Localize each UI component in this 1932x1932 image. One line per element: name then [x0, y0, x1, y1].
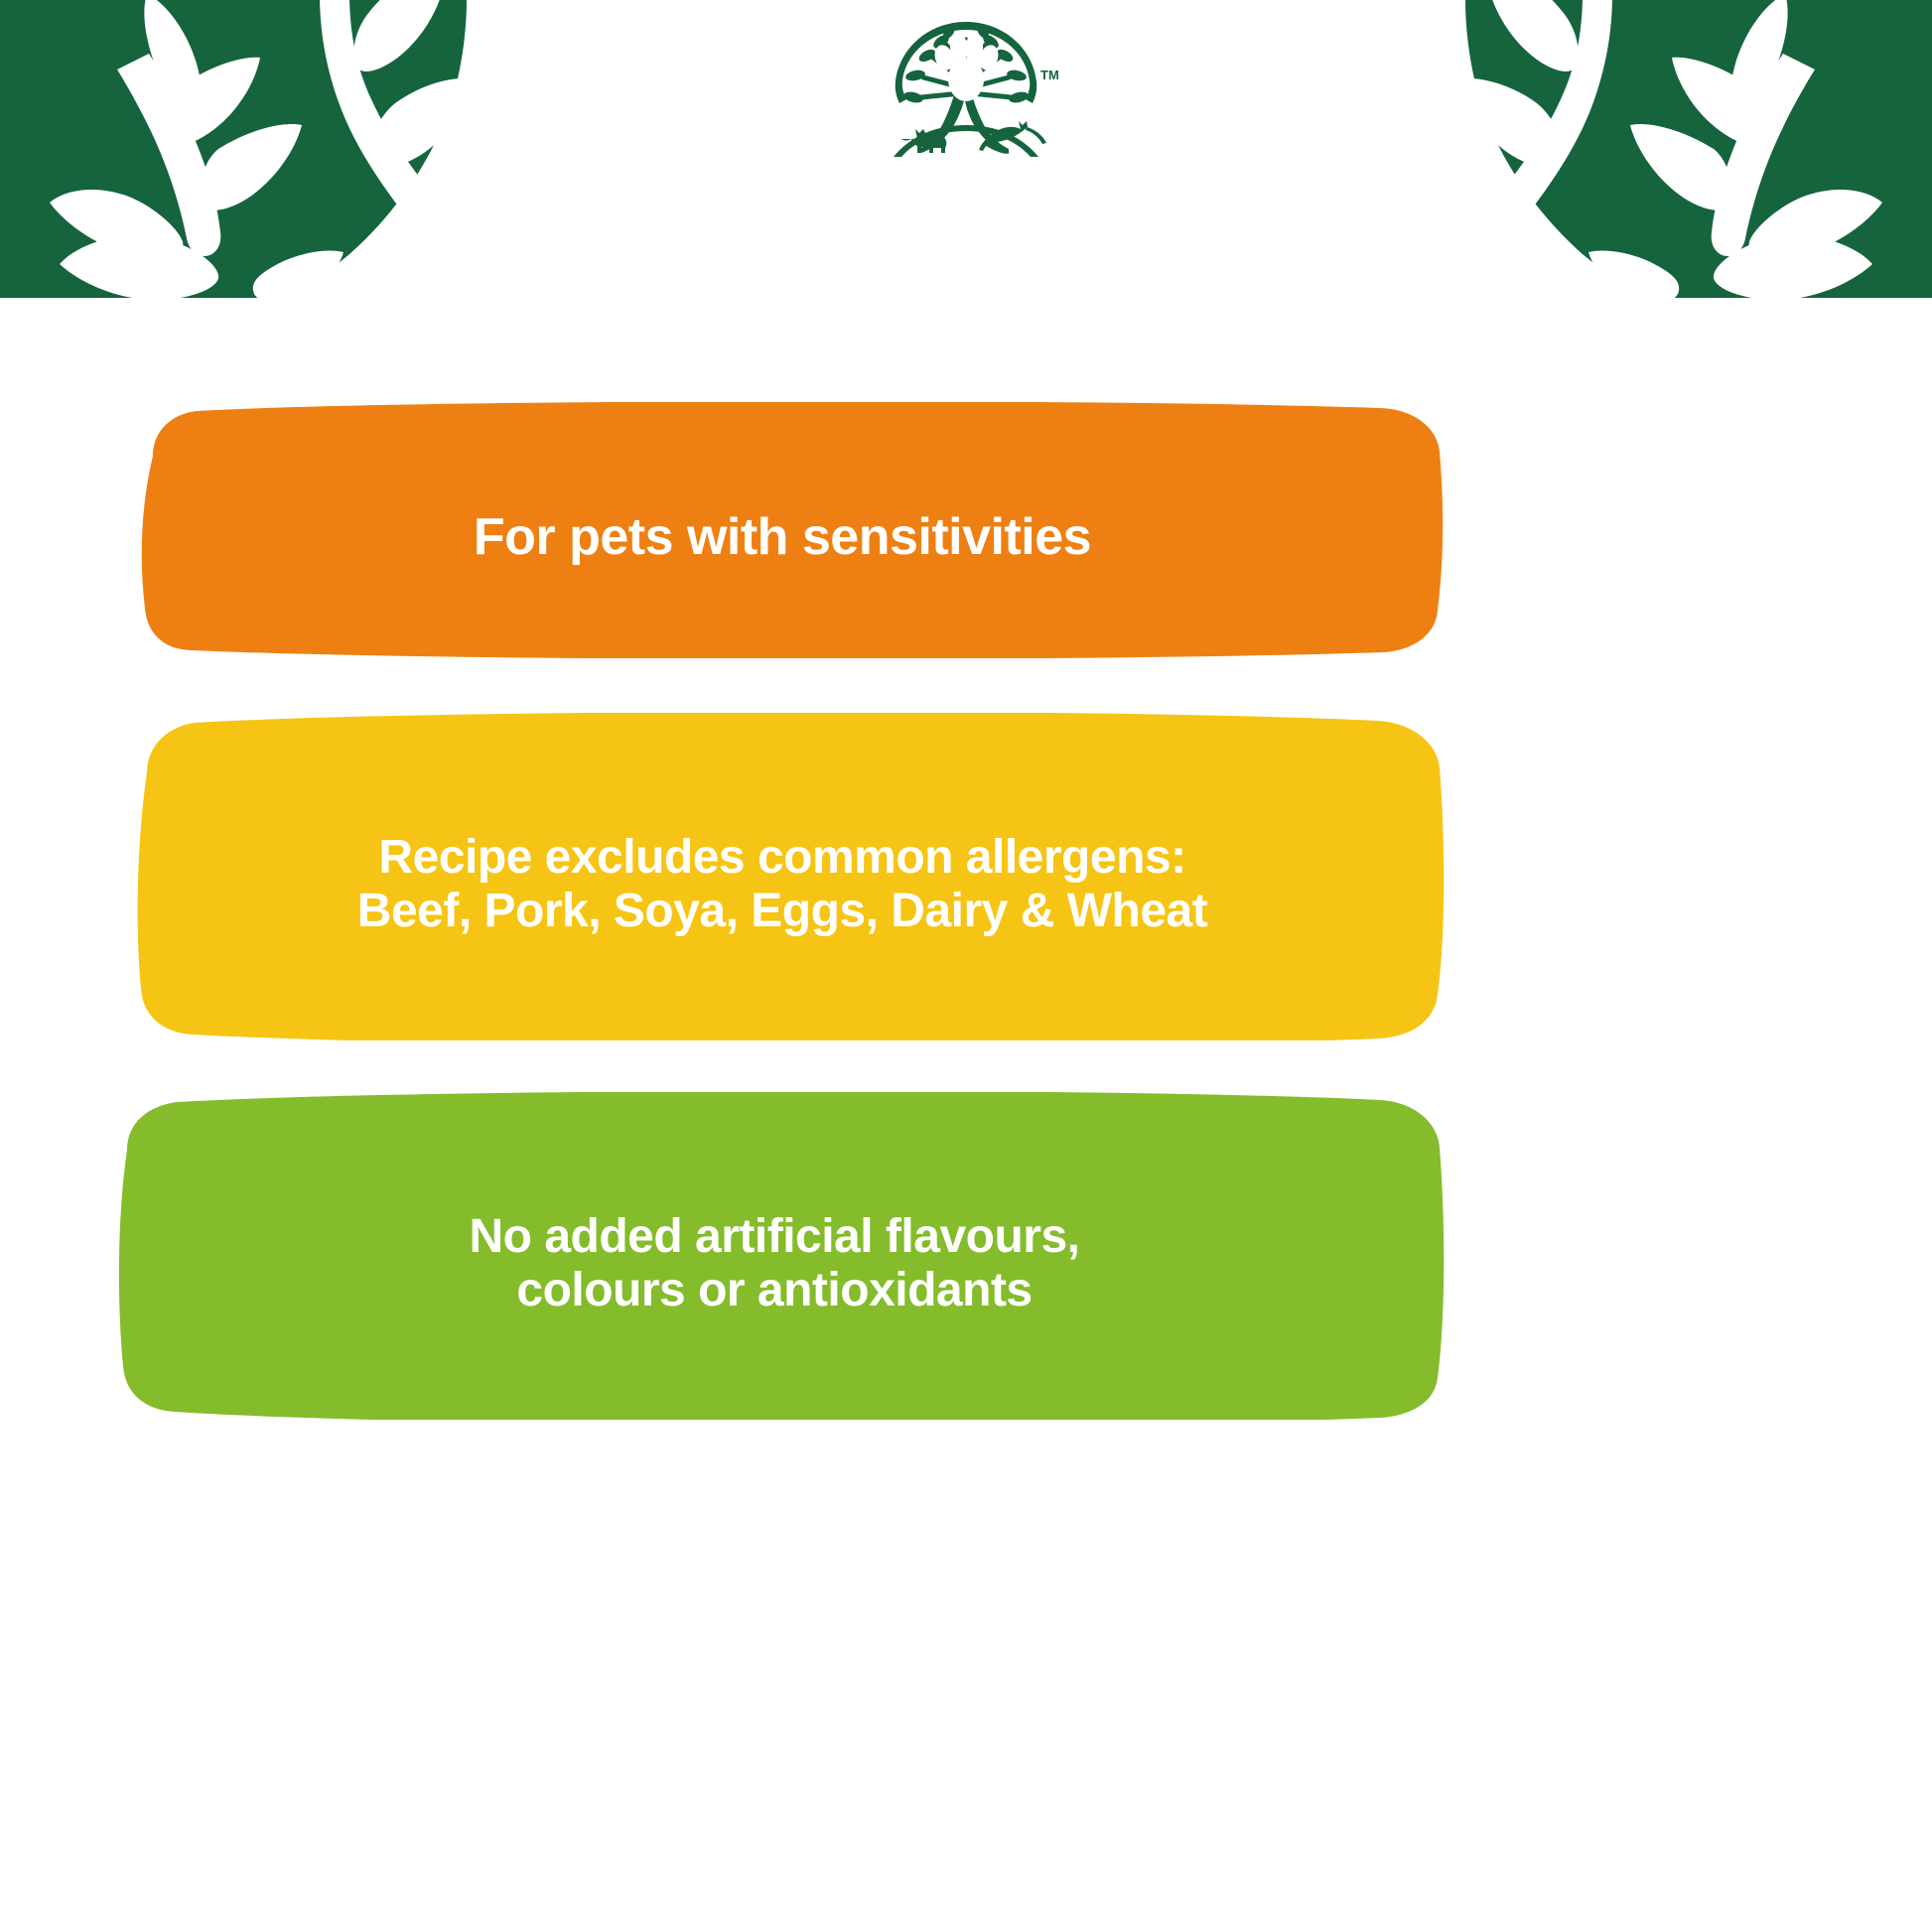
banner-subtitle-line: No added artificial flavours, — [99, 1210, 1449, 1264]
banner-subtitle: Recipe excludes common allergens: Beef, … — [117, 831, 1448, 938]
feature-banner-hypoallergenic: HYPOALLERGENIC For pets with sensitiviti… — [117, 402, 1448, 658]
banner-subtitle-line: Beef, Pork, Soya, Eggs, Dairy & Wheat — [117, 885, 1448, 938]
banner-subtitle-line: For pets with sensitivities — [117, 508, 1448, 566]
feature-banner-complete-and-balanced: COMPLETE & BALANCED Recipe excludes comm… — [117, 713, 1448, 1040]
trademark-symbol: TM — [1040, 68, 1059, 82]
banner-subtitle-line: Recipe excludes common allergens: — [117, 831, 1448, 885]
banner-subtitle-line: colours or antioxidants — [99, 1264, 1449, 1317]
feature-banner-selected-natural-ingredients: SELECTED NATURAL INGREDIENTS No added ar… — [99, 1092, 1449, 1420]
paw-tree-logo-icon: TM — [872, 18, 1060, 157]
banner-subtitle: No added artificial flavours, colours or… — [99, 1210, 1449, 1317]
banner-subtitle: For pets with sensitivities — [117, 508, 1448, 566]
